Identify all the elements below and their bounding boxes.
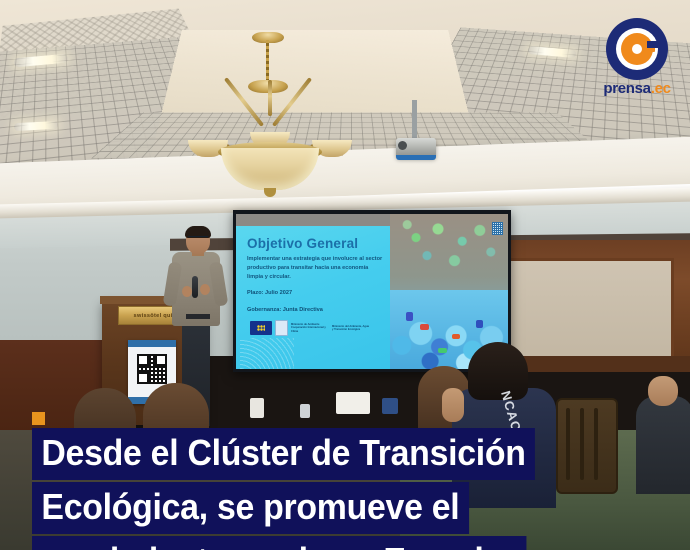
- projector-base: [396, 155, 436, 160]
- table-paper: [336, 392, 370, 414]
- headline-line-2: Ecológica, se promueve el: [32, 482, 469, 534]
- table-object: [382, 398, 398, 414]
- audience-member-4-hand: [442, 388, 464, 422]
- brand-name: prensa: [603, 80, 650, 97]
- slide-governance: Gobernanza: Junta Directiva: [247, 307, 383, 313]
- prensa-logo-icon: [606, 18, 668, 80]
- logo-inner-ring: [616, 28, 658, 70]
- slide-foliage-image: [394, 216, 504, 288]
- projection-screen: Objetivo General Implementar una estrate…: [236, 214, 508, 369]
- logo-notch: [647, 41, 661, 48]
- headline-line-3: crecimiento verde en Ecuador: [32, 536, 526, 550]
- headline-block: Desde el Clúster de Transición Ecológica…: [32, 428, 690, 550]
- logo-e-glyph: [621, 33, 653, 65]
- slide-logo-caption-1: Ministerio de Ambiente Cooperación Inter…: [291, 323, 329, 333]
- projector-lens: [398, 141, 407, 150]
- audience-member-4-head: [468, 342, 528, 400]
- audience-member-5-head: [648, 376, 678, 406]
- brand-tld: .ec: [651, 80, 671, 97]
- slide-logo-caption-2: Ministerio del Ambiente, Agua y Transici…: [332, 325, 370, 332]
- speaker-hand-left: [182, 286, 192, 297]
- speaker-hand-right: [200, 284, 210, 295]
- speaker-glasses-icon: [188, 236, 208, 241]
- chandelier-arm-center: [268, 80, 272, 116]
- speaker-belt: [186, 314, 210, 319]
- slide-spiral-decoration: [240, 338, 294, 369]
- table-bottle: [300, 404, 310, 418]
- brand-wordmark: prensa.ec: [598, 80, 676, 97]
- microphone: [192, 276, 198, 298]
- slide-logo-row: Ministerio de Ambiente Cooperación Inter…: [250, 320, 382, 336]
- prensa-watermark[interactable]: prensa.ec: [598, 18, 676, 96]
- slide-title: Objetivo General: [247, 236, 387, 251]
- news-photo-card: Objetivo General Implementar una estrate…: [0, 0, 690, 550]
- slide-qr-code-icon: [492, 222, 503, 235]
- slide-body-text: Implementar una estrategia que involucre…: [247, 255, 383, 282]
- table-cup: [250, 398, 264, 418]
- headline-line-1: Desde el Clúster de Transición: [32, 428, 535, 480]
- poster-top-bar: [128, 340, 176, 347]
- slide-deadline: Plazo: Julio 2027: [247, 290, 383, 296]
- chandelier-chain: [266, 40, 269, 84]
- eu-flag-logo-icon: [250, 321, 272, 335]
- podium-qr-code-icon: [137, 354, 167, 384]
- projector-mount: [412, 100, 417, 142]
- ministry-logo-icon: [275, 320, 288, 336]
- headline-accent-square: [32, 412, 45, 425]
